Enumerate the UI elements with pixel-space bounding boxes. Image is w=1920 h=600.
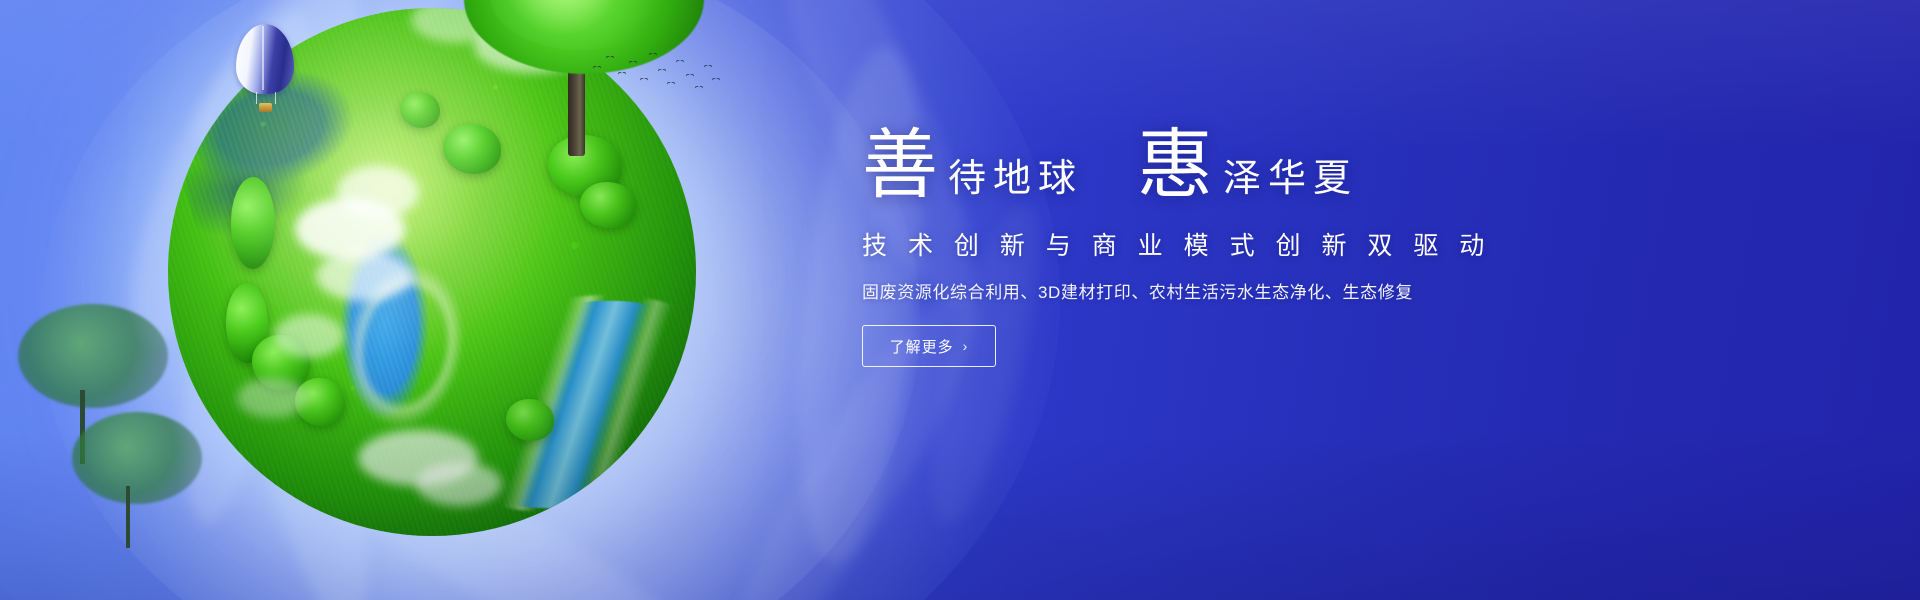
bird-icon — [668, 82, 675, 86]
hot-air-balloon-icon — [236, 24, 294, 116]
balloon-basket — [259, 103, 272, 112]
tree-crown — [72, 412, 202, 504]
bird-icon — [696, 86, 703, 90]
headline-lead-char-1: 善 — [862, 128, 938, 204]
page-title: 善 待地球 惠 泽华夏 — [862, 128, 1602, 204]
bird-icon — [713, 78, 720, 82]
learn-more-button[interactable]: 了解更多 › — [862, 325, 996, 367]
bird-icon — [619, 72, 626, 76]
balloon-envelope — [236, 24, 294, 94]
bird-icon — [705, 65, 712, 69]
hero-copy-block: 善 待地球 惠 泽华夏 技 术 创 新 与 商 业 模 式 创 新 双 驱 动 … — [862, 128, 1602, 367]
silhouette-tree — [72, 412, 202, 562]
headline-rest-2: 泽华夏 — [1223, 160, 1358, 198]
service-description: 固废资源化综合利用、3D建材打印、农村生活污水生态净化、生态修复 — [862, 278, 1602, 303]
headline-lead-char-2: 惠 — [1137, 128, 1213, 204]
bird-flock-icon — [592, 48, 722, 96]
bird-icon — [594, 66, 601, 70]
bird-icon — [641, 78, 648, 82]
bird-icon — [659, 69, 666, 73]
headline-rest-1: 待地球 — [948, 160, 1083, 198]
tree-crown — [18, 304, 168, 408]
learn-more-label: 了解更多 — [890, 336, 954, 357]
hero-banner: 善 待地球 惠 泽华夏 技 术 创 新 与 商 业 模 式 创 新 双 驱 动 … — [0, 0, 1920, 600]
bird-icon — [650, 53, 657, 57]
bird-icon — [687, 74, 694, 78]
bird-icon — [677, 60, 684, 64]
bird-icon — [607, 56, 614, 60]
tree-trunk — [126, 486, 130, 548]
balloon-seam — [262, 26, 264, 90]
tagline: 技 术 创 新 与 商 业 模 式 创 新 双 驱 动 — [862, 226, 1602, 262]
bird-icon — [630, 61, 637, 65]
chevron-right-icon: › — [963, 339, 969, 353]
